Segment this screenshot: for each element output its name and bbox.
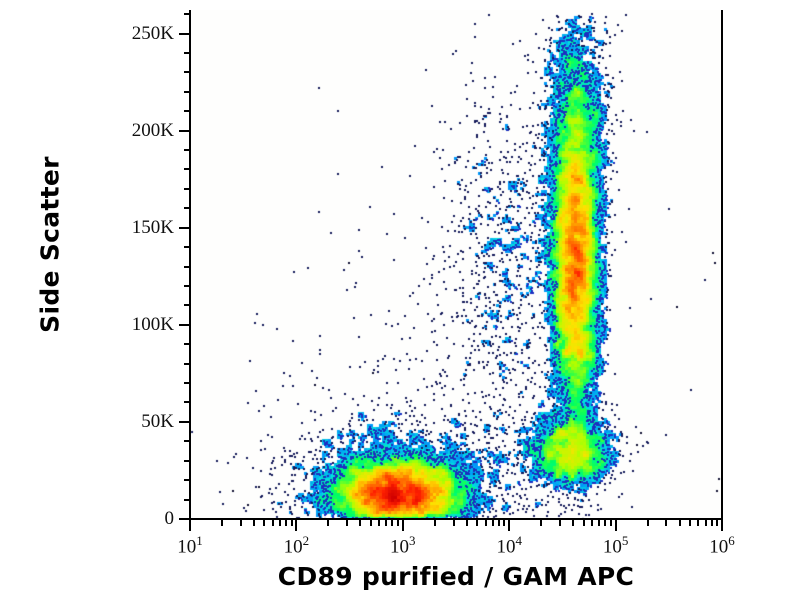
x-tick-major bbox=[615, 520, 617, 531]
x-tick-minor bbox=[716, 520, 718, 526]
x-tick-label: 105 bbox=[603, 533, 629, 558]
x-tick-minor bbox=[359, 520, 361, 526]
x-tick-minor bbox=[610, 520, 612, 526]
x-tick-minor bbox=[705, 520, 707, 526]
x-tick-minor bbox=[485, 520, 487, 526]
y-axis-tick-labels: 050K100K150K200K250K bbox=[0, 0, 190, 600]
x-tick-minor bbox=[583, 520, 585, 526]
x-tick-minor bbox=[285, 520, 287, 526]
x-tick-minor bbox=[240, 520, 242, 526]
y-tick-label: 100K bbox=[132, 314, 174, 336]
x-tick-major bbox=[508, 520, 510, 531]
x-tick-minor bbox=[591, 520, 593, 526]
x-tick-minor bbox=[503, 520, 505, 526]
y-axis-title: Side Scatter bbox=[36, 55, 65, 435]
x-tick-minor bbox=[665, 520, 667, 526]
x-tick-minor bbox=[711, 520, 713, 526]
x-tick-minor bbox=[466, 520, 468, 526]
x-tick-minor bbox=[604, 520, 606, 526]
x-tick-minor bbox=[540, 520, 542, 526]
x-tick-minor bbox=[370, 520, 372, 526]
x-tick-minor bbox=[434, 520, 436, 526]
x-tick-minor bbox=[689, 520, 691, 526]
x-tick-minor bbox=[385, 520, 387, 526]
x-tick-minor bbox=[397, 520, 399, 526]
x-tick-major bbox=[721, 520, 723, 531]
x-axis-title: CD89 purified / GAM APC bbox=[190, 562, 722, 591]
x-tick-minor bbox=[378, 520, 380, 526]
y-tick-label: 200K bbox=[132, 120, 174, 142]
x-tick-minor bbox=[346, 520, 348, 526]
x-tick-minor bbox=[647, 520, 649, 526]
x-tick-major bbox=[295, 520, 297, 531]
x-tick-label: 102 bbox=[284, 533, 310, 558]
x-tick-label: 104 bbox=[496, 533, 522, 558]
x-tick-label: 103 bbox=[390, 533, 416, 558]
x-tick-minor bbox=[221, 520, 223, 526]
x-tick-minor bbox=[272, 520, 274, 526]
plot-area bbox=[190, 10, 722, 519]
x-tick-minor bbox=[391, 520, 393, 526]
x-tick-minor bbox=[559, 520, 561, 526]
x-tick-minor bbox=[697, 520, 699, 526]
y-tick-label: 50K bbox=[141, 411, 174, 433]
x-tick-label: 106 bbox=[709, 533, 735, 558]
x-tick-minor bbox=[279, 520, 281, 526]
x-tick-label: 101 bbox=[177, 533, 203, 558]
x-axis-ticks bbox=[0, 520, 800, 534]
x-tick-major bbox=[189, 520, 191, 531]
x-tick-minor bbox=[598, 520, 600, 526]
x-tick-minor bbox=[572, 520, 574, 526]
x-tick-minor bbox=[453, 520, 455, 526]
plot-right-border bbox=[721, 10, 723, 520]
x-tick-major bbox=[402, 520, 404, 531]
flow-cytometry-plot: 050K100K150K200K250K CD89 purified / GAM… bbox=[0, 0, 800, 600]
y-tick-label: 250K bbox=[132, 23, 174, 45]
x-tick-minor bbox=[476, 520, 478, 526]
x-tick-minor bbox=[327, 520, 329, 526]
x-tick-minor bbox=[291, 520, 293, 526]
x-tick-minor bbox=[263, 520, 265, 526]
x-tick-minor bbox=[498, 520, 500, 526]
y-tick-label: 150K bbox=[132, 217, 174, 239]
x-tick-minor bbox=[492, 520, 494, 526]
x-tick-minor bbox=[253, 520, 255, 526]
x-tick-minor bbox=[679, 520, 681, 526]
